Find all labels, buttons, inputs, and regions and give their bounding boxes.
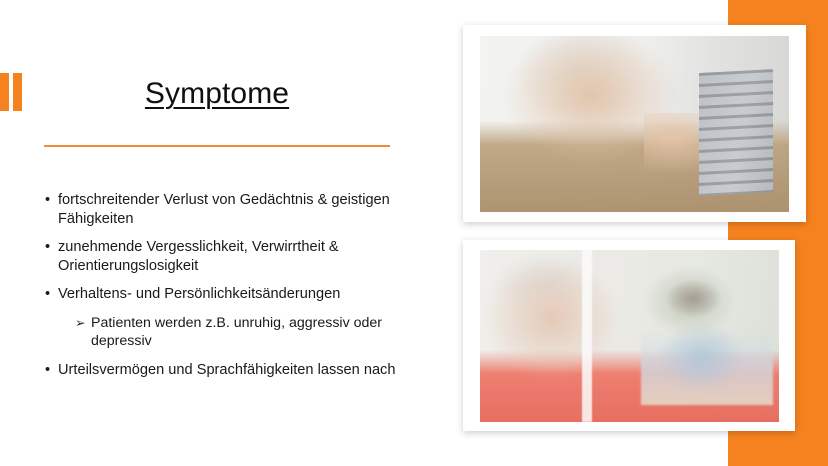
- title-underline-rule: [44, 145, 390, 147]
- sub-bullet-text: Patienten werden z.B. unruhig, aggressiv…: [91, 314, 410, 351]
- slide-title: Symptome: [44, 76, 390, 112]
- bullet-text: Urteilsvermögen und Sprachfähigkeiten la…: [58, 361, 410, 380]
- corner-bar-left: [0, 73, 9, 111]
- corner-accent-bars: [0, 73, 24, 111]
- bullet-marker-icon: •: [40, 238, 58, 257]
- slide-canvas: Symptome • fortschreitender Verlust von …: [0, 0, 828, 466]
- bullet-item: • zunehmende Vergesslichkeit, Verwirrthe…: [40, 238, 410, 275]
- bullet-item: • Urteilsvermögen und Sprachfähigkeiten …: [40, 361, 410, 380]
- photo-card-top: [463, 25, 806, 222]
- bullet-marker-icon: •: [40, 361, 58, 380]
- bullet-marker-icon: •: [40, 285, 58, 304]
- symptom-bullet-list: • fortschreitender Verlust von Gedächtni…: [40, 191, 410, 389]
- bullet-text: zunehmende Vergesslichkeit, Verwirrtheit…: [58, 238, 410, 275]
- elderly-man-confused-photo: [480, 36, 789, 212]
- bullet-text: fortschreitender Verlust von Gedächtnis …: [58, 191, 410, 228]
- arrow-bullet-icon: ➢: [74, 314, 91, 333]
- bullet-marker-icon: •: [40, 191, 58, 210]
- elderly-woman-pensive-photo: [480, 250, 779, 422]
- sub-bullet-item: ➢ Patienten werden z.B. unruhig, aggress…: [74, 314, 410, 351]
- corner-bar-right: [13, 73, 22, 111]
- bullet-item: • Verhaltens- und Persönlichkeitsänderun…: [40, 285, 410, 304]
- bullet-text: Verhaltens- und Persönlichkeitsänderunge…: [58, 285, 410, 304]
- bullet-item: • fortschreitender Verlust von Gedächtni…: [40, 191, 410, 228]
- photo-card-bottom: [463, 240, 795, 431]
